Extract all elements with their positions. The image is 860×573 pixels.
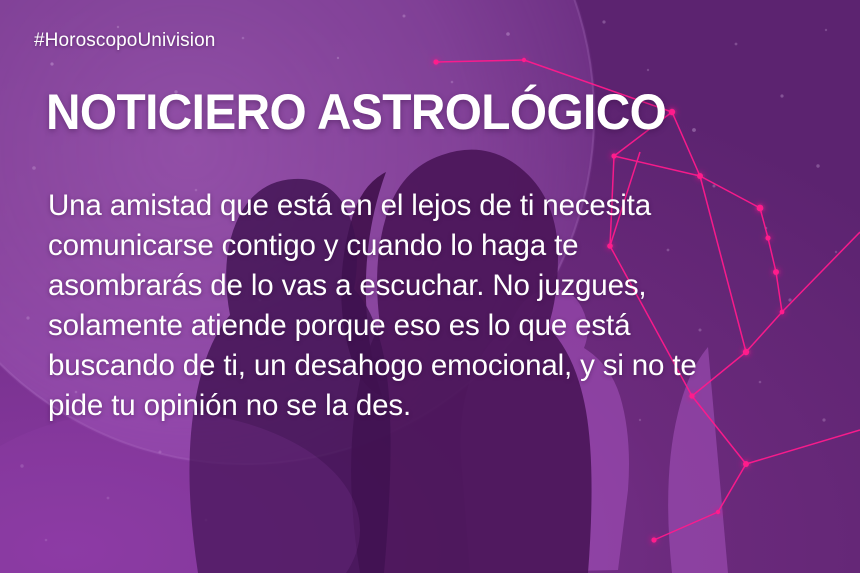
- horoscope-graphic-card: #HoroscopoUnivision NOTICIERO ASTROLÓGIC…: [0, 0, 860, 573]
- horoscope-body-text: Una amistad que está en el lejos de ti n…: [48, 186, 808, 426]
- hashtag-label: #HoroscopoUnivision: [34, 30, 215, 52]
- body-line: comunicarse contigo y cuando lo haga te: [48, 226, 808, 266]
- body-line: solamente atiende porque eso es lo que e…: [48, 306, 808, 346]
- body-line: pide tu opinión no se la des.: [48, 386, 808, 426]
- page-title: NOTICIERO ASTROLÓGICO: [46, 85, 666, 139]
- body-line: Una amistad que está en el lejos de ti n…: [48, 186, 808, 226]
- body-line: buscando de ti, un desahogo emocional, y…: [48, 346, 808, 386]
- body-line: asombrarás de lo vas a escuchar. No juzg…: [48, 266, 808, 306]
- text-content: #HoroscopoUnivision NOTICIERO ASTROLÓGIC…: [0, 0, 860, 573]
